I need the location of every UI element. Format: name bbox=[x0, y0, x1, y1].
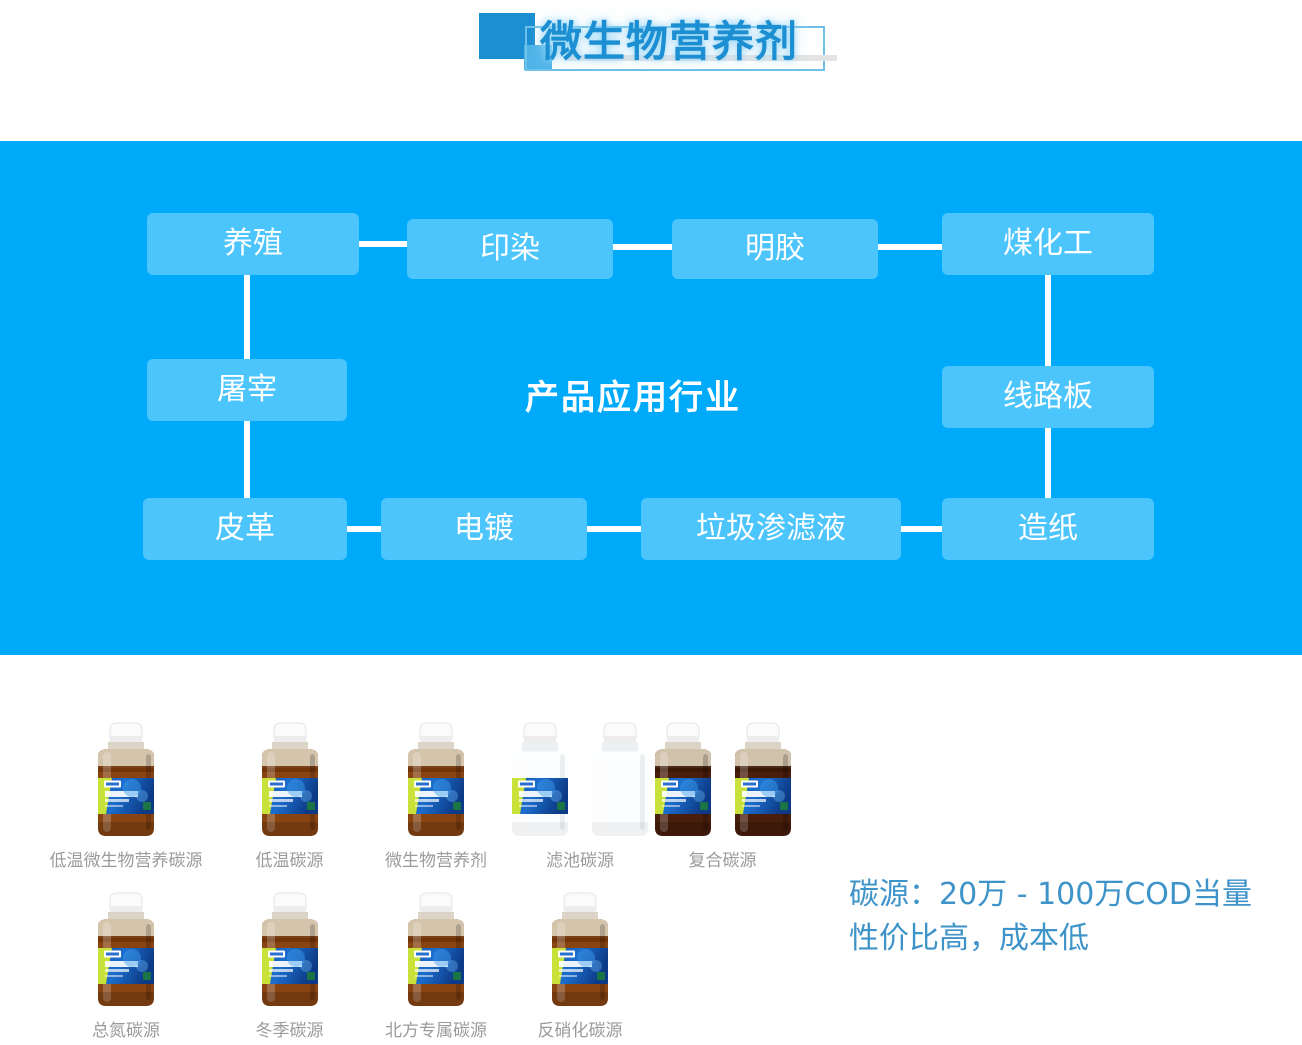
application-industries-panel: 产品应用行业 养殖印染明胶煤化工屠宰线路板皮革电镀垃圾渗滤液造纸 bbox=[0, 141, 1302, 655]
product-bottle-image bbox=[398, 722, 474, 840]
diagram-connector bbox=[244, 421, 250, 498]
page-header: 微生物营养剂 bbox=[0, 0, 1302, 141]
product-item[interactable]: 总氮碳源 bbox=[35, 890, 217, 1040]
diagram-node[interactable]: 造纸 bbox=[942, 498, 1154, 560]
product-item[interactable]: 微生物营养剂 bbox=[362, 720, 510, 870]
diagram-node[interactable]: 垃圾渗滤液 bbox=[641, 498, 901, 560]
product-bottle-group bbox=[88, 890, 164, 1010]
product-row-1: 低温微生物营养碳源 bbox=[0, 720, 1302, 870]
product-bottle-group bbox=[542, 890, 618, 1010]
product-label: 低温微生物营养碳源 bbox=[50, 853, 203, 870]
diagram-node[interactable]: 养殖 bbox=[147, 213, 359, 275]
diagram-connector bbox=[878, 244, 942, 250]
product-bottle-group bbox=[398, 720, 474, 840]
diagram-node-label: 养殖 bbox=[223, 229, 283, 259]
product-item[interactable]: 北方专属碳源 bbox=[362, 890, 510, 1040]
product-label: 微生物营养剂 bbox=[385, 853, 487, 870]
tagline-block: 碳源：20万 - 100万COD当量 性价比高，成本低 bbox=[849, 873, 1252, 961]
product-label: 低温碳源 bbox=[256, 853, 324, 870]
diagram-node-label: 垃圾渗滤液 bbox=[696, 514, 846, 544]
diagram-node-label: 皮革 bbox=[215, 514, 275, 544]
diagram-node-label: 印染 bbox=[480, 234, 540, 264]
diagram-connector bbox=[587, 526, 641, 532]
diagram-node-label: 线路板 bbox=[1003, 382, 1093, 412]
product-label: 北方专属碳源 bbox=[385, 1023, 487, 1040]
diagram-node-label: 明胶 bbox=[745, 234, 805, 264]
product-bottle-image bbox=[88, 722, 164, 840]
diagram-connector bbox=[1045, 275, 1051, 366]
product-bottle-image bbox=[502, 722, 578, 840]
tagline-line-2: 性价比高，成本低 bbox=[849, 917, 1252, 961]
product-bottle-group bbox=[252, 890, 328, 1010]
diagram-connector bbox=[901, 526, 942, 532]
product-item[interactable]: 反硝化碳源 bbox=[510, 890, 650, 1040]
product-bottle-group bbox=[398, 890, 474, 1010]
product-bottle-group bbox=[645, 720, 801, 840]
product-bottle-image bbox=[88, 892, 164, 1010]
diagram-connector bbox=[347, 526, 381, 532]
page-title: 微生物营养剂 bbox=[540, 8, 798, 69]
diagram-node[interactable]: 电镀 bbox=[381, 498, 587, 560]
product-item[interactable]: 复合碳源 bbox=[650, 720, 795, 870]
diagram-node-label: 煤化工 bbox=[1003, 229, 1093, 259]
product-item[interactable]: 冬季碳源 bbox=[217, 890, 362, 1040]
product-bottle-group bbox=[252, 720, 328, 840]
product-item[interactable]: 滤池碳源 bbox=[510, 720, 650, 870]
product-bottle-image bbox=[252, 722, 328, 840]
diagram-node-label: 造纸 bbox=[1018, 514, 1078, 544]
product-bottle-image bbox=[252, 892, 328, 1010]
product-label: 滤池碳源 bbox=[546, 853, 614, 870]
diagram-connector bbox=[244, 275, 250, 359]
product-label: 冬季碳源 bbox=[256, 1023, 324, 1040]
product-bottle-group bbox=[88, 720, 164, 840]
product-label: 复合碳源 bbox=[689, 853, 757, 870]
diagram-node-label: 屠宰 bbox=[217, 375, 277, 405]
diagram-node[interactable]: 屠宰 bbox=[147, 359, 347, 421]
diagram-node[interactable]: 煤化工 bbox=[942, 213, 1154, 275]
diagram-node[interactable]: 明胶 bbox=[672, 219, 878, 279]
diagram-center-label: 产品应用行业 bbox=[525, 370, 741, 419]
diagram-node[interactable]: 印染 bbox=[407, 219, 613, 279]
product-item[interactable]: 低温碳源 bbox=[217, 720, 362, 870]
diagram-connector bbox=[1045, 428, 1051, 498]
product-gallery: 低温微生物营养碳源 bbox=[0, 655, 1302, 1045]
diagram-connector bbox=[359, 241, 407, 247]
product-bottle-image bbox=[542, 892, 618, 1010]
product-bottle-image bbox=[725, 722, 801, 840]
tagline-line-1: 碳源：20万 - 100万COD当量 bbox=[849, 873, 1252, 917]
product-bottle-image bbox=[645, 722, 721, 840]
diagram-connector bbox=[613, 244, 672, 250]
product-item[interactable]: 低温微生物营养碳源 bbox=[35, 720, 217, 870]
diagram-node[interactable]: 线路板 bbox=[942, 366, 1154, 428]
diagram-node-label: 电镀 bbox=[454, 514, 514, 544]
product-bottle-group bbox=[502, 720, 658, 840]
product-bottle-image bbox=[398, 892, 474, 1010]
product-label: 反硝化碳源 bbox=[538, 1023, 623, 1040]
diagram-node[interactable]: 皮革 bbox=[143, 498, 347, 560]
product-label: 总氮碳源 bbox=[92, 1023, 160, 1040]
